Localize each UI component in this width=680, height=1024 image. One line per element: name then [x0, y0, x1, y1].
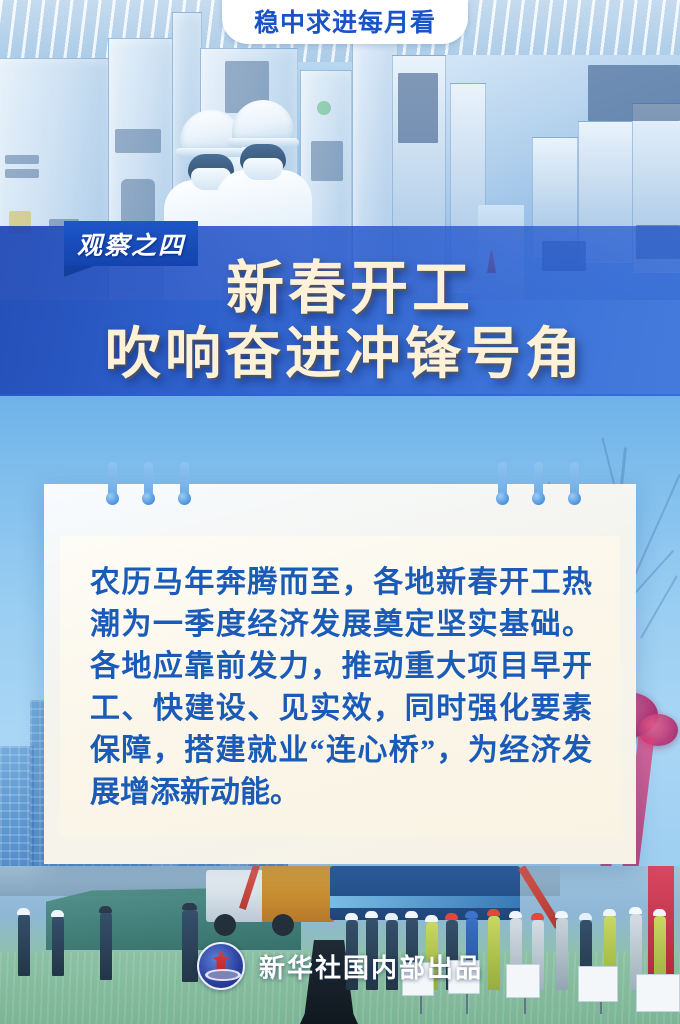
- hard-hat: [445, 913, 458, 920]
- hard-hat: [487, 909, 500, 916]
- machine-panel: [115, 129, 161, 153]
- machine-label: [5, 155, 39, 164]
- body-paragraph: 农历马年奔腾而至，各地新春开工热潮为一季度经济发展奠定坚实基础。各地应靠前发力，…: [90, 562, 592, 814]
- title-line-2: 吹响奋进冲锋号角: [0, 325, 680, 385]
- equipment-dark-panel: [398, 73, 438, 143]
- card-pins: [44, 484, 636, 544]
- hard-hat: [345, 913, 358, 920]
- hard-hat: [17, 908, 30, 915]
- hard-hat: [603, 909, 616, 916]
- head: [182, 903, 197, 910]
- footer: 新华社国内部出品: [0, 938, 680, 994]
- pin-dot-icon: [142, 462, 155, 516]
- poster: 观察之四 新春开工 吹响奋进冲锋号角: [0, 0, 680, 1024]
- machine-label: [5, 169, 39, 178]
- worker-mask: [243, 158, 283, 180]
- top-tab-label: 稳中求进每月看: [254, 0, 436, 39]
- hard-hat: [425, 915, 438, 922]
- hard-hat: [51, 910, 64, 917]
- truck-wheel: [214, 914, 236, 936]
- footer-label: 新华社国内部出品: [259, 948, 483, 985]
- hard-hat: [555, 911, 568, 918]
- hard-hat: [531, 913, 544, 920]
- hard-hat: [509, 911, 522, 918]
- text-card: 农历马年奔腾而至，各地新春开工热潮为一季度经济发展奠定坚实基础。各地应靠前发力，…: [44, 484, 636, 864]
- top-tab[interactable]: 稳中求进每月看: [222, 0, 468, 44]
- status-light: [317, 101, 331, 115]
- text-card-inner: 农历马年奔腾而至，各地新春开工热潮为一季度经济发展奠定坚实基础。各地应靠前发力，…: [60, 536, 620, 836]
- hard-hat: [579, 913, 592, 920]
- truck-wheel: [272, 914, 294, 936]
- truck-bed: [262, 866, 334, 922]
- pin-dot-icon: [496, 462, 509, 516]
- pin-dot-icon: [568, 462, 581, 516]
- pin-dot-icon: [106, 462, 119, 516]
- xinhua-logo-icon: [197, 942, 245, 990]
- machine-panel: [311, 141, 343, 181]
- hard-hat: [385, 913, 398, 920]
- page-title: 新春开工 吹响奋进冲锋号角: [0, 258, 680, 385]
- branch: [640, 575, 678, 638]
- overhead-rack: [588, 65, 680, 121]
- hard-hat: [653, 909, 666, 916]
- title-line-1: 新春开工: [0, 258, 680, 321]
- section-badge-label: 观察之四: [77, 226, 185, 262]
- hard-hat: [629, 907, 642, 914]
- truck-stripe: [330, 896, 520, 908]
- section-badge: 观察之四: [64, 221, 198, 266]
- logo-ring-mark: [205, 969, 241, 981]
- hard-hat: [365, 911, 378, 918]
- hard-hat: [405, 911, 418, 918]
- pin-dot-icon: [532, 462, 545, 516]
- hard-hat: [465, 911, 478, 918]
- head: [99, 906, 112, 913]
- pin-dot-icon: [178, 462, 191, 516]
